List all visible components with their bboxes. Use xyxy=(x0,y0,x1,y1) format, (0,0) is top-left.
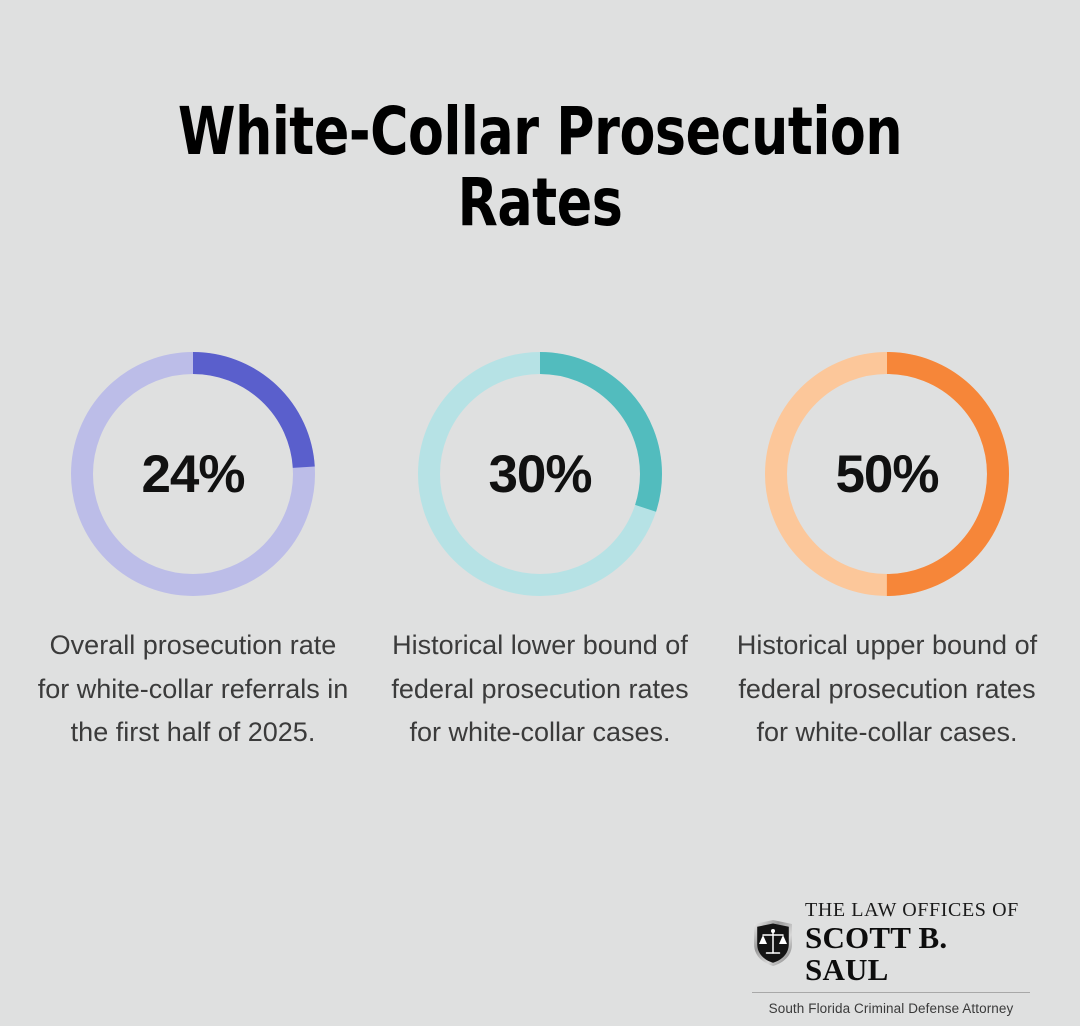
donut-percent-label-1: 30% xyxy=(418,352,662,596)
donut-chart-0: 24% xyxy=(71,352,315,596)
logo-text-block: The Law Offices of SCOTT B. SAUL xyxy=(805,900,1030,985)
stat-caption-1: Historical lower bound of federal prosec… xyxy=(384,624,696,755)
logo-divider xyxy=(752,992,1030,993)
page-title-container: White-Collar Prosecution Rates xyxy=(60,96,1020,239)
stat-caption-0: Overall prosecution rate for white-colla… xyxy=(37,624,349,755)
donut-chart-2: 50% xyxy=(765,352,1009,596)
donut-percent-label-2: 50% xyxy=(765,352,1009,596)
stat-card-0: 24% Overall prosecution rate for white-c… xyxy=(20,352,366,755)
donut-chart-1: 30% xyxy=(418,352,662,596)
stat-card-1: 30% Historical lower bound of federal pr… xyxy=(367,352,713,755)
stat-card-2: 50% Historical upper bound of federal pr… xyxy=(714,352,1060,755)
infographic-canvas: White-Collar Prosecution Rates 24% Overa… xyxy=(0,0,1080,1026)
shield-scales-icon xyxy=(752,919,794,967)
stats-row: 24% Overall prosecution rate for white-c… xyxy=(0,352,1080,755)
logo-line-1: The Law Offices of xyxy=(805,900,1030,921)
donut-percent-label-0: 24% xyxy=(71,352,315,596)
logo-line-2: SCOTT B. SAUL xyxy=(805,922,1030,985)
page-title: White-Collar Prosecution Rates xyxy=(118,96,963,239)
stat-caption-2: Historical upper bound of federal prosec… xyxy=(731,624,1043,755)
logo-tagline: South Florida Criminal Defense Attorney xyxy=(752,1001,1030,1016)
logo-top-row: The Law Offices of SCOTT B. SAUL xyxy=(752,900,1030,985)
brand-logo: The Law Offices of SCOTT B. SAUL South F… xyxy=(752,900,1030,1016)
